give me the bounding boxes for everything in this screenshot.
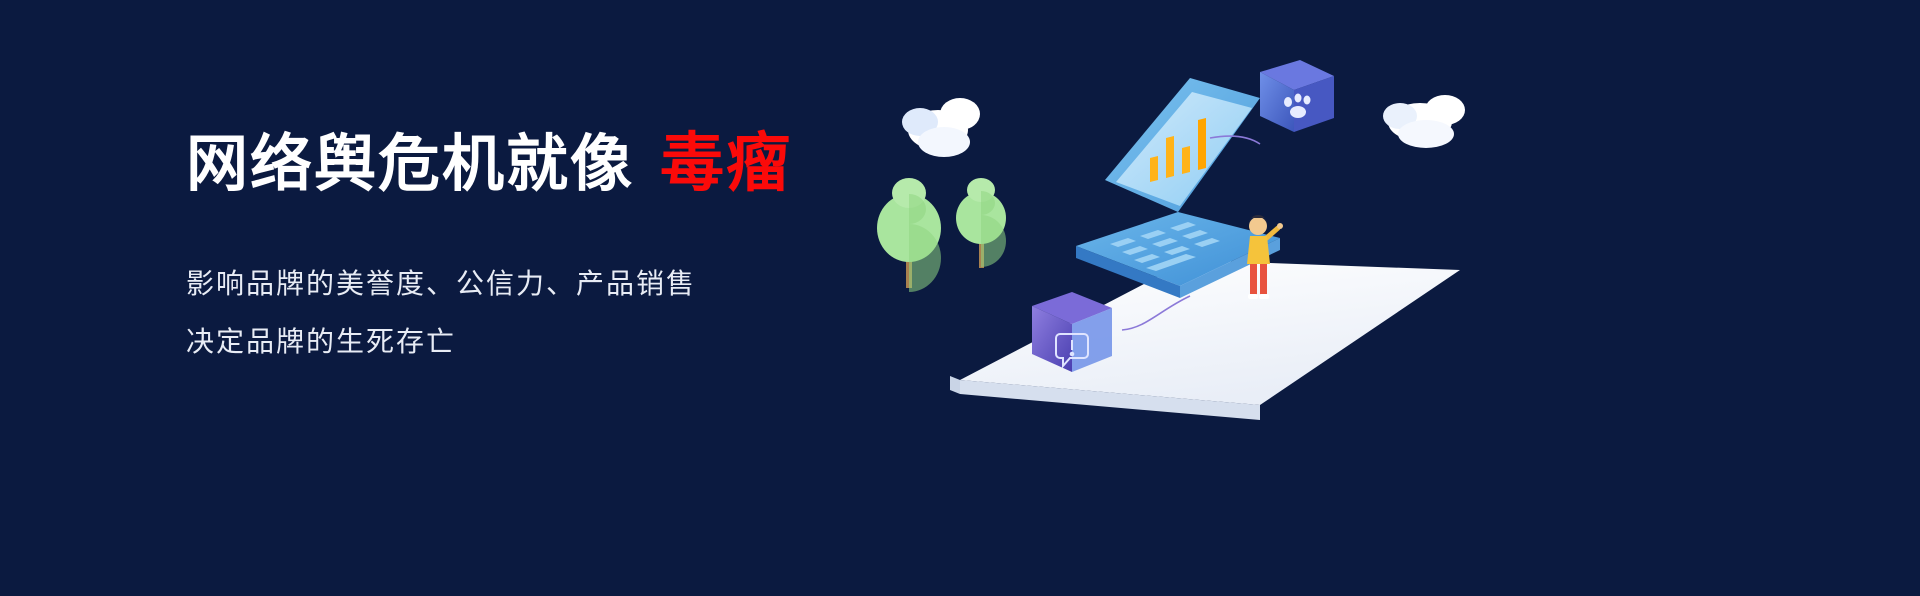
isometric-illustration <box>860 60 1500 460</box>
cloud-left-icon <box>902 98 980 157</box>
page-title: 网络舆危机就像毒瘤 <box>186 128 906 199</box>
subtitle-line-2: 决定品牌的生死存亡 <box>186 313 906 371</box>
headline-white-text: 网络舆危机就像 <box>186 130 634 199</box>
subtitle-block: 影响品牌的美誉度、公信力、产品销售 决定品牌的生死存亡 <box>186 255 906 371</box>
headline-accent-text: 毒瘤 <box>660 127 792 199</box>
cloud-right-icon <box>1383 95 1465 148</box>
tree-large-icon <box>877 178 941 292</box>
tree-small-icon <box>956 178 1006 268</box>
paw-cube <box>1260 60 1334 132</box>
hero-banner: 网络舆危机就像毒瘤 影响品牌的美誉度、公信力、产品销售 决定品牌的生死存亡 <box>0 0 1920 596</box>
subtitle-line-1: 影响品牌的美誉度、公信力、产品销售 <box>186 255 906 313</box>
text-block: 网络舆危机就像毒瘤 影响品牌的美誉度、公信力、产品销售 决定品牌的生死存亡 <box>186 128 906 371</box>
